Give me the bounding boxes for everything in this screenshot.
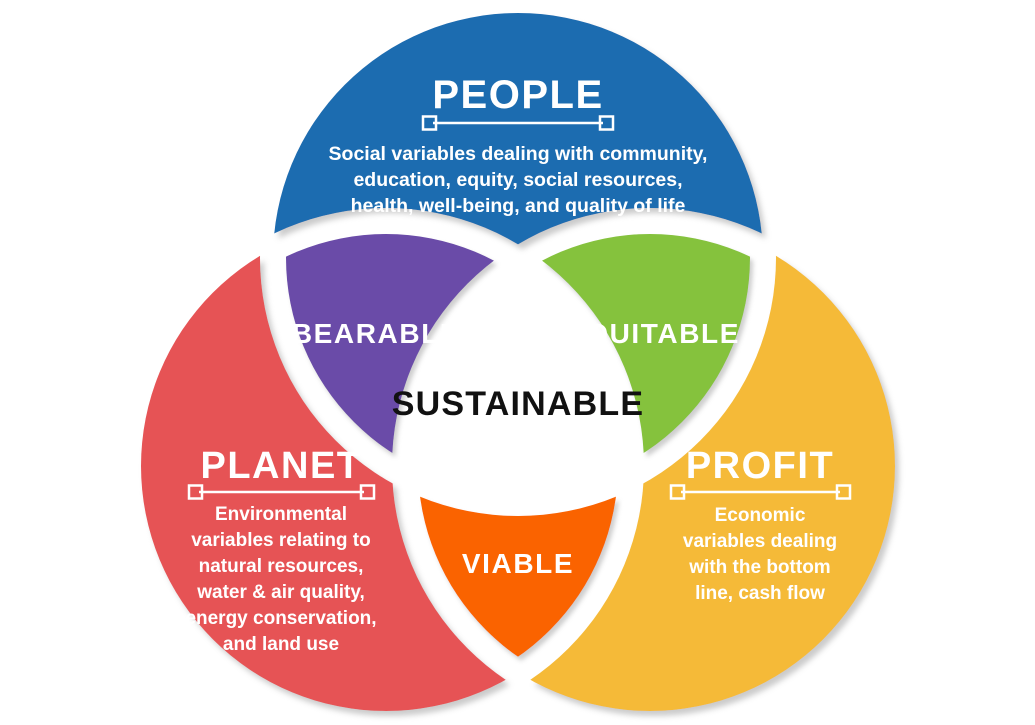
planet-body-line: water & air quality, bbox=[196, 582, 365, 603]
sustainability-venn-diagram: PEOPLE Social variables dealing with com… bbox=[0, 0, 1035, 725]
profit-body-line: variables dealing bbox=[683, 531, 837, 552]
venn-svg-canvas: PEOPLE Social variables dealing with com… bbox=[0, 0, 1035, 725]
people-heading: PEOPLE bbox=[432, 73, 603, 117]
profit-body-line: line, cash flow bbox=[695, 583, 825, 604]
planet-body-line: energy conservation, bbox=[185, 608, 376, 629]
overlap-label-bearable: BEARABLE bbox=[292, 318, 460, 349]
overlap-label-equitable: EQUITABLE bbox=[566, 318, 740, 349]
profit-body-line: with the bottom bbox=[688, 557, 830, 578]
planet-label-group: PLANET Environmental variables relating … bbox=[185, 445, 376, 655]
planet-body-line: natural resources, bbox=[199, 556, 364, 577]
profit-heading: PROFIT bbox=[686, 445, 834, 487]
planet-body-line: Environmental bbox=[215, 504, 347, 525]
planet-body-line: and land use bbox=[223, 634, 339, 655]
planet-heading: PLANET bbox=[201, 445, 362, 487]
planet-body-line: variables relating to bbox=[191, 530, 371, 551]
center-label-sustainable: SUSTAINABLE bbox=[392, 385, 644, 423]
people-body-line: health, well-being, and quality of life bbox=[351, 195, 686, 217]
people-body-line: Social variables dealing with community, bbox=[329, 143, 708, 165]
profit-body-line: Economic bbox=[715, 505, 806, 526]
overlap-label-viable: VIABLE bbox=[462, 548, 574, 579]
people-body-line: education, equity, social resources, bbox=[353, 169, 682, 191]
